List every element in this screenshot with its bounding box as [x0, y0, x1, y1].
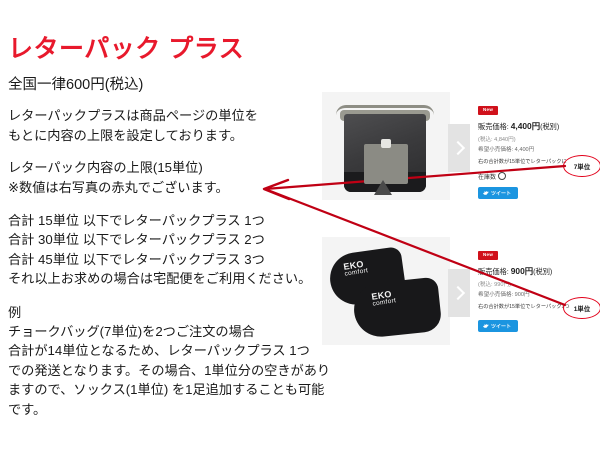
product-info: New 販売価格: 4,400円(税別) (税込: 4,840円) 希望小売価格… [478, 98, 600, 201]
msrp-price: 希望小売価格: 4,400円 [478, 145, 600, 153]
paragraph-capacity-limit: レターパック内容の上限(15単位) ※数値は右写真の赤丸でございます。 [8, 158, 348, 197]
price-including-tax: (税込: 990円) [478, 280, 600, 288]
product-card[interactable]: New 販売価格: 4,400円(税別) (税込: 4,840円) 希望小売価格… [322, 92, 600, 202]
price-line: 販売価格: 900円(税別) [478, 265, 600, 277]
triangle-logo-icon [374, 180, 392, 195]
next-image-button[interactable] [448, 269, 470, 317]
product-photo-socks[interactable]: EKO comfort EKO comfort [322, 237, 450, 345]
tweet-button[interactable]: ツイート [478, 187, 518, 199]
twitter-bird-icon [483, 191, 489, 196]
photo-canvas [322, 92, 450, 200]
product-info: New 販売価格: 900円(税別) (税込: 990円) 希望小売価格: 90… [478, 243, 600, 334]
price-value: 4,400円 [511, 121, 540, 131]
stock-label: 在庫数 [478, 175, 496, 181]
price-line: 販売価格: 4,400円(税別) [478, 120, 600, 132]
twitter-bird-icon [483, 324, 489, 329]
chevron-right-icon [451, 286, 465, 300]
slide-canvas: レターパック プラス 全国一律600円(税込) レターパックプラスは商品ページの… [0, 0, 600, 450]
status-badge-new: New [478, 106, 498, 115]
photo-canvas: EKO comfort EKO comfort [322, 237, 450, 345]
price-tax-note: (税別) [540, 122, 559, 131]
tweet-button[interactable]: ツイート [478, 320, 518, 332]
stock-available-icon [498, 172, 506, 180]
paragraph-pack-count-rules: 合計 15単位 以下でレターパックプラス 1つ 合計 30単位 以下でレターパッ… [8, 211, 348, 289]
bag-pocket [364, 144, 408, 184]
price-label: 販売価格: [478, 267, 509, 276]
product-card[interactable]: EKO comfort EKO comfort New 販売価格: 900円(税… [322, 237, 600, 347]
bag-clip [381, 139, 391, 148]
tweet-label: ツイート [491, 323, 511, 330]
product-photo-chalk-bag[interactable] [322, 92, 450, 200]
next-image-button[interactable] [448, 124, 470, 172]
unit-circle-annotation: 7単位 [563, 155, 600, 177]
status-badge-new: New [478, 251, 498, 260]
page-title: レターパック プラス [8, 36, 348, 64]
paragraph-unit-basis: レターパックプラスは商品ページの単位を もとに内容の上限を設定しております。 [8, 106, 348, 145]
explanation-text-block: レターパック プラス 全国一律600円(税込) レターパックプラスは商品ページの… [8, 36, 348, 419]
price-value: 900円 [511, 266, 533, 276]
price-including-tax: (税込: 4,840円) [478, 135, 600, 143]
tweet-label: ツイート [491, 190, 511, 197]
chevron-right-icon [451, 141, 465, 155]
price-label: 販売価格: [478, 122, 509, 131]
price-tax-note: (税別) [533, 267, 552, 276]
paragraph-example: 例 チョークバッグ(7単位)を2つご注文の場合 合計が14単位となるため、レター… [8, 303, 348, 419]
shipping-fee-subtitle: 全国一律600円(税込) [8, 76, 348, 95]
unit-circle-annotation: 1単位 [563, 297, 600, 319]
